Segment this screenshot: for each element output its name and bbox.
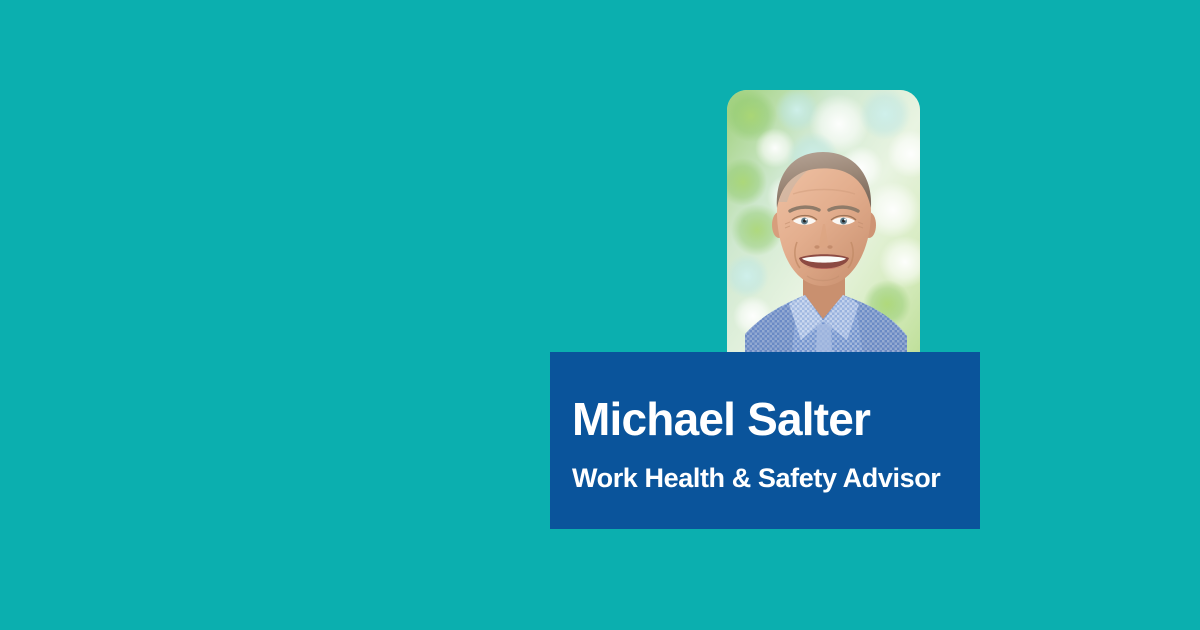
portrait-photo bbox=[727, 90, 920, 383]
profile-banner: Michael Salter Work Health & Safety Advi… bbox=[0, 0, 1200, 630]
info-card: Michael Salter Work Health & Safety Advi… bbox=[550, 352, 980, 529]
person-name: Michael Salter bbox=[572, 396, 870, 442]
person-role: Work Health & Safety Advisor bbox=[572, 465, 940, 492]
